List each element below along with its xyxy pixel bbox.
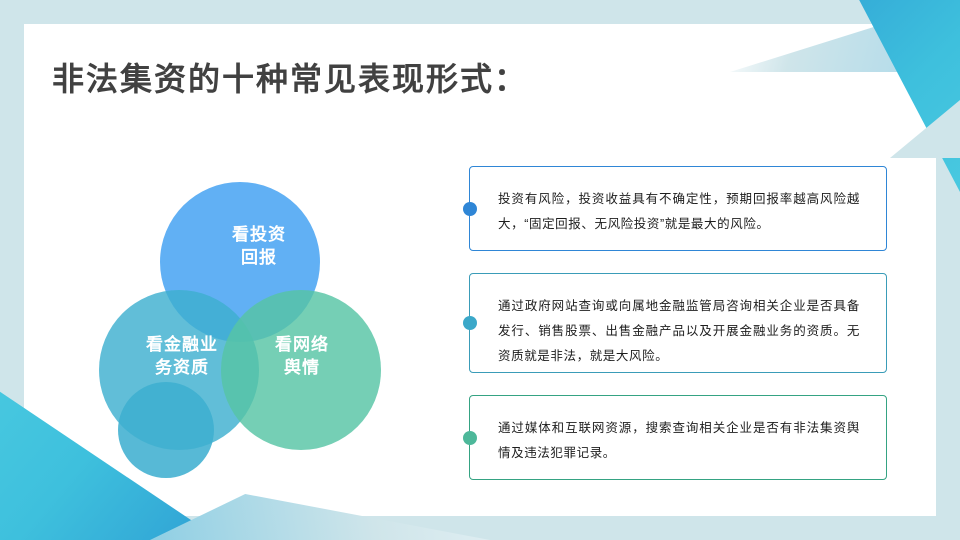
venn-circles	[95, 178, 385, 453]
info-box-network-sentiment[interactable]: 通过媒体和互联网资源，搜索查询相关企业是否有非法集资舆情及违法犯罪记录。	[469, 395, 887, 480]
info-box-text: 投资有风险，投资收益具有不确定性，预期回报率越高风险越大，“固定回报、无风险投资…	[498, 187, 860, 237]
slide-canvas: 非法集资的十种常见表现形式： 看投资 回报 看金融业 务资质 看网络 舆情 投资…	[0, 0, 960, 540]
venn-circle-network-sentiment	[221, 290, 381, 450]
bullet-dot-icon	[463, 431, 477, 445]
frame-band-top	[0, 0, 960, 24]
bullet-dot-icon	[463, 316, 477, 330]
info-box-financial-qualification[interactable]: 通过政府网站查询或向属地金融监管局咨询相关企业是否具备发行、销售股票、出售金融产…	[469, 273, 887, 373]
info-box-investment-return[interactable]: 投资有风险，投资收益具有不确定性，预期回报率越高风险越大，“固定回报、无风险投资…	[469, 166, 887, 251]
bullet-dot-icon	[463, 202, 477, 216]
page-title: 非法集资的十种常见表现形式：	[52, 54, 528, 100]
info-box-list: 投资有风险，投资收益具有不确定性，预期回报率越高风险越大，“固定回报、无风险投资…	[469, 166, 887, 480]
info-box-text: 通过政府网站查询或向属地金融监管局咨询相关企业是否具备发行、销售股票、出售金融产…	[498, 294, 860, 369]
info-box-text: 通过媒体和互联网资源，搜索查询相关企业是否有非法集资舆情及违法犯罪记录。	[498, 416, 860, 466]
venn-diagram: 看投资 回报 看金融业 务资质 看网络 舆情	[95, 178, 385, 453]
